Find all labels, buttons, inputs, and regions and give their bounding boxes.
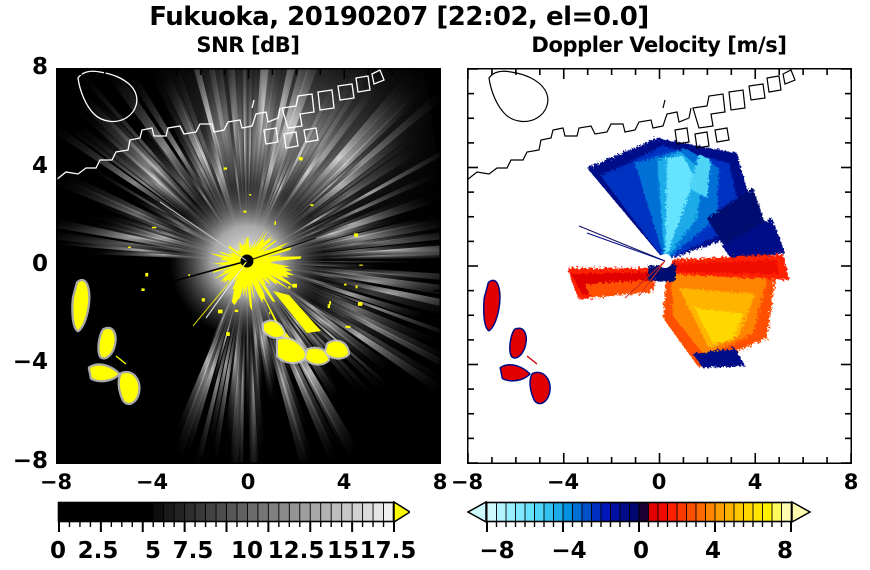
snr-xtick-0: 0 [208, 470, 288, 494]
snr-ytick-m4: −4 [0, 349, 48, 375]
snr-cbtick-2p5: 2.5 [62, 538, 134, 564]
snr-colorbar[interactable] [50, 500, 410, 532]
doppler-cbtick-4: 4 [678, 538, 748, 564]
snr-ytick-4: 4 [0, 153, 48, 179]
snr-cbtick-17p5: 17.5 [348, 538, 428, 564]
doppler-cbtick-0: 0 [606, 538, 676, 564]
figure-title: Fukuoka, 20190207 [22:02, el=0.0] [0, 2, 834, 32]
snr-ytick-8: 8 [0, 54, 48, 80]
snr-xtick-4: 4 [304, 470, 384, 494]
doppler-xtick-0: 0 [619, 470, 699, 494]
doppler-xtick-m8: −8 [427, 470, 507, 494]
doppler-cbtick-m8: −8 [462, 538, 532, 564]
snr-xtick-m4: −4 [112, 470, 192, 494]
snr-panel-title: SNR [dB] [56, 33, 440, 57]
doppler-xtick-m4: −4 [523, 470, 603, 494]
doppler-cbtick-8: 8 [750, 538, 820, 564]
snr-panel-plot[interactable] [56, 68, 441, 464]
doppler-panel-title: Doppler Velocity [m/s] [467, 33, 851, 57]
doppler-xtick-8: 8 [811, 470, 870, 494]
doppler-colorbar[interactable] [462, 500, 822, 532]
doppler-xtick-4: 4 [715, 470, 795, 494]
snr-xtick-m8: −8 [16, 470, 96, 494]
doppler-cbtick-m4: −4 [534, 538, 604, 564]
snr-ytick-0: 0 [0, 251, 48, 277]
doppler-panel-plot[interactable] [467, 68, 852, 464]
